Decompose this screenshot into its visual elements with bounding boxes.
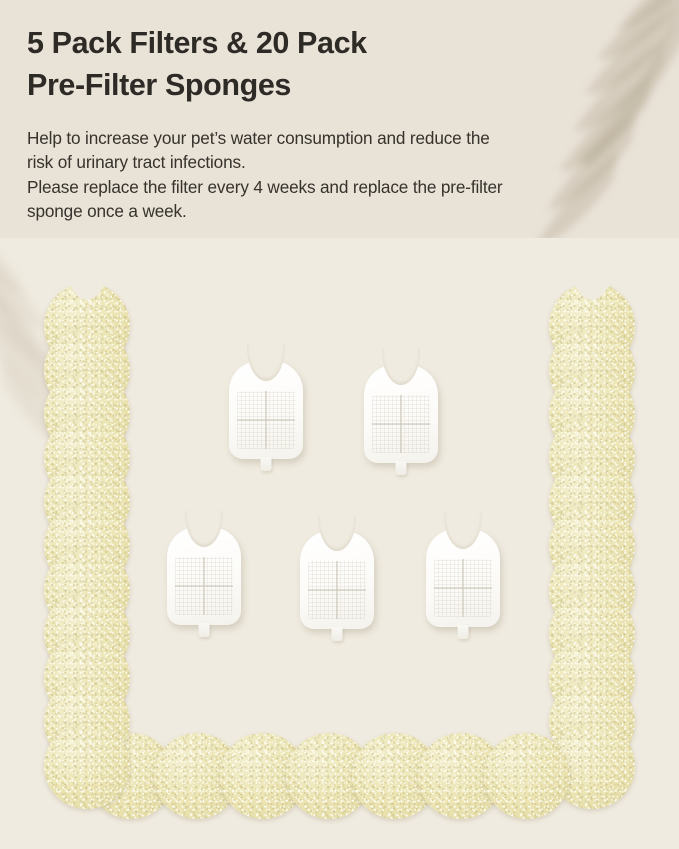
filter-cartridge (364, 365, 438, 473)
headline-highlight-20-pack: 20 Pack (256, 22, 367, 64)
body-line-1: Help to increase your pet’s water consum… (27, 126, 637, 150)
filter-cartridge-tab (332, 627, 343, 641)
body-line-4: sponge once a week. (27, 199, 637, 223)
product-banner: 5 Pack Filters & 20 Pack Pre-Filter Spon… (0, 0, 679, 849)
filter-cartridge-tab (458, 625, 469, 639)
filter-mesh-grid (372, 395, 430, 453)
headline-highlight-5-pack: 5 Pack (27, 22, 121, 64)
filter-mesh-grid (434, 559, 492, 617)
product-photo-area (0, 238, 679, 849)
filter-cartridge (167, 527, 241, 635)
filter-cartridge (426, 529, 500, 637)
body-line-2: risk of urinary tract infections. (27, 150, 637, 174)
pre-filter-sponge (44, 723, 130, 809)
headline: 5 Pack Filters & 20 Pack Pre-Filter Spon… (27, 22, 627, 106)
filter-cartridge-tab (396, 461, 407, 475)
filter-cartridge (300, 531, 374, 639)
body-copy: Help to increase your pet’s water consum… (27, 126, 637, 224)
filter-mesh-grid (308, 561, 366, 619)
pre-filter-sponge (484, 733, 570, 819)
header-band: 5 Pack Filters & 20 Pack Pre-Filter Spon… (0, 0, 679, 238)
filter-cartridge (229, 361, 303, 469)
body-line-3: Please replace the filter every 4 weeks … (27, 175, 637, 199)
headline-line-1: 5 Pack Filters & 20 Pack (27, 22, 627, 64)
headline-line-2: Pre-Filter Sponges (27, 64, 627, 106)
headline-plain-filters: Filters & (121, 26, 256, 60)
filter-cartridge-tab (261, 457, 272, 471)
filter-mesh-grid (175, 557, 233, 615)
filter-cartridge-tab (199, 623, 210, 637)
filter-mesh-grid (237, 391, 295, 449)
